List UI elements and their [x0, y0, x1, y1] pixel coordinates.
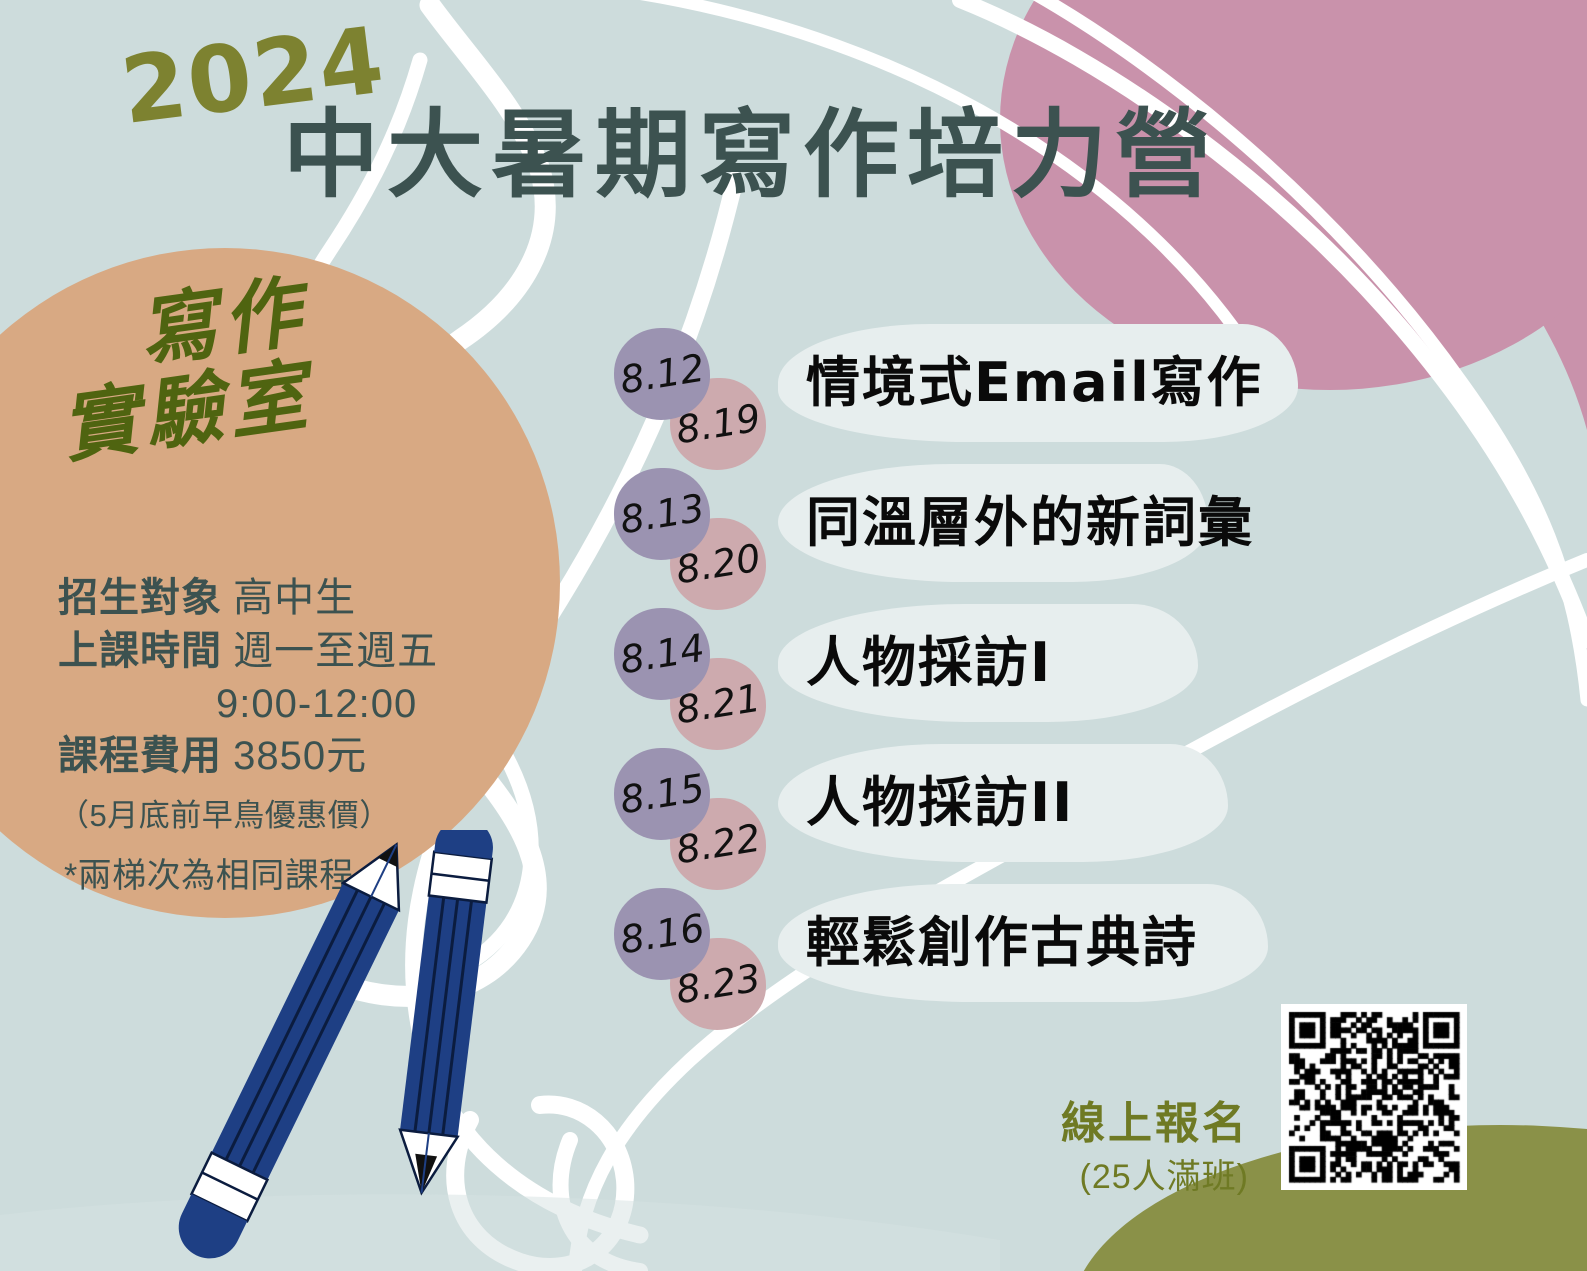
info-row-schedule: 上課時間 週一至週五	[58, 625, 528, 678]
info-value-time: 9:00-12:00	[216, 682, 417, 726]
info-value-audience: 高中生	[233, 576, 356, 620]
course-row[interactable]: 8.16 8.23 輕鬆創作古典詩	[598, 882, 1338, 1022]
page-title: 中大暑期寫作培力營	[283, 107, 1219, 203]
pencil-illustration-group	[150, 830, 570, 1271]
info-value-schedule: 週一至週五	[233, 629, 438, 673]
info-label-fee: 課程費用	[58, 734, 222, 778]
info-label-schedule: 上課時間	[58, 629, 222, 673]
registration-capacity-note: (25人滿班)	[1061, 1155, 1249, 1199]
info-value-fee: 3850元	[233, 734, 367, 778]
course-date-primary: 8.14	[614, 608, 710, 700]
pencil-icon	[168, 831, 424, 1269]
white-loop-2	[561, 1140, 640, 1271]
pencil-icon	[393, 830, 497, 1196]
info-label-audience: 招生對象	[58, 576, 222, 620]
registration-title: 線上報名	[1061, 1098, 1249, 1151]
poster-canvas: 2024 中大暑期寫作培力營 寫作 實驗室 招生對象 高中生 上課時間 週一至週…	[0, 0, 1587, 1271]
course-date-primary: 8.16	[614, 888, 710, 980]
course-row[interactable]: 8.12 8.19 情境式Email寫作	[598, 322, 1338, 462]
course-schedule-list: 8.12 8.19 情境式Email寫作 8.13 8.20 同溫層外的新詞彙 …	[598, 322, 1338, 1022]
course-title: 人物採訪I	[806, 620, 1052, 706]
course-row[interactable]: 8.14 8.21 人物採訪I	[598, 602, 1338, 742]
course-date-primary: 8.13	[614, 468, 710, 560]
lab-name-script: 寫作 實驗室	[60, 272, 460, 441]
registration-block: 線上報名 (25人滿班)	[1061, 1098, 1249, 1199]
course-row[interactable]: 8.13 8.20 同溫層外的新詞彙	[598, 462, 1338, 602]
course-title: 情境式Email寫作	[806, 340, 1263, 426]
info-note-early-bird: （5月底前早鳥優惠價）	[58, 797, 528, 834]
course-date-primary: 8.12	[614, 328, 710, 420]
course-date-primary: 8.15	[614, 748, 710, 840]
course-row[interactable]: 8.15 8.22 人物採訪II	[598, 742, 1338, 882]
course-title: 輕鬆創作古典詩	[806, 900, 1198, 986]
course-title: 同溫層外的新詞彙	[806, 480, 1254, 566]
info-row-fee: 課程費用 3850元	[58, 730, 528, 783]
course-title: 人物採訪II	[806, 760, 1074, 846]
qr-code-icon[interactable]	[1281, 1004, 1467, 1190]
info-row-time: 9:00-12:00	[58, 678, 528, 731]
info-row-audience: 招生對象 高中生	[58, 572, 528, 625]
